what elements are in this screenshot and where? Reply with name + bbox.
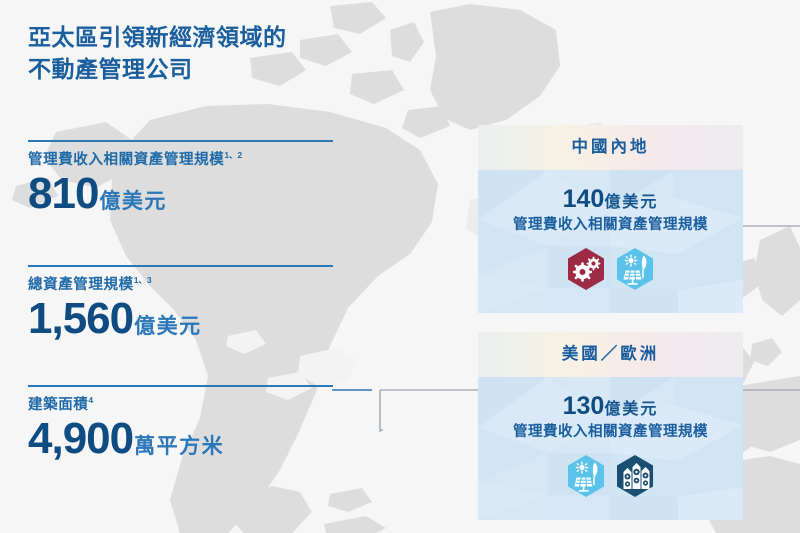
gears-icon (566, 247, 606, 291)
stat-value: 1,560 (28, 296, 133, 342)
stat-value-row: 810 億美元 (28, 171, 333, 217)
region-amount-row: 140億美元 (478, 187, 743, 212)
infographic-canvas: 亞太區引領新經濟領域的 不動產管理公司 管理費收入相關資產管理規模1、2 810… (0, 0, 800, 533)
stat-label-text: 總資產管理規模 (28, 277, 134, 293)
stat-unit: 億美元 (134, 310, 202, 340)
stat-block-aum-fee: 管理費收入相關資產管理規模1、2 810 億美元 (28, 140, 333, 217)
region-icon-row (478, 454, 743, 498)
region-amount-unit: 億美元 (604, 401, 658, 418)
stat-footnote: 1、3 (134, 275, 152, 285)
headline-block: 亞太區引領新經濟領域的 不動產管理公司 (28, 22, 368, 85)
region-card-body: 140億美元 管理費收入相關資產管理規模 (478, 170, 743, 313)
stat-label: 管理費收入相關資產管理規模1、2 (28, 151, 333, 169)
region-amount-row: 130億美元 (478, 394, 743, 419)
region-amount-unit: 億美元 (604, 194, 658, 211)
region-card-china: 中國內地 140億美元 管理費收入相關資產管理規模 (478, 125, 743, 313)
stat-value: 4,900 (28, 416, 133, 462)
stat-label-text: 建築面積 (28, 397, 88, 413)
stat-label: 總資產管理規模1、3 (28, 276, 333, 294)
region-card-header: 美國／歐洲 (478, 332, 743, 377)
stat-block-floor-area: 建築面積4 4,900 萬平方米 (28, 385, 333, 462)
stat-unit: 億美元 (99, 185, 167, 215)
region-card-header: 中國內地 (478, 125, 743, 170)
region-card-body: 130億美元 管理費收入相關資產管理規模 (478, 377, 743, 520)
stat-unit: 萬平方米 (134, 430, 224, 460)
region-card-content: 130億美元 管理費收入相關資產管理規模 (478, 377, 743, 498)
divider (28, 265, 333, 267)
region-card-content: 140億美元 管理費收入相關資產管理規模 (478, 170, 743, 291)
stat-label: 建築面積4 (28, 396, 333, 414)
divider (28, 140, 333, 142)
region-subtitle: 管理費收入相關資產管理規模 (478, 425, 743, 440)
stat-footnote: 1、2 (224, 150, 242, 160)
divider (28, 385, 333, 387)
stat-value-row: 4,900 萬平方米 (28, 416, 333, 462)
stat-block-total-aum: 總資產管理規模1、3 1,560 億美元 (28, 265, 333, 342)
stat-value-row: 1,560 億美元 (28, 296, 333, 342)
stat-footnote: 4 (88, 395, 93, 405)
data-center-icon (615, 454, 655, 498)
page-title: 亞太區引領新經濟領域的 不動產管理公司 (28, 22, 368, 85)
region-icon-row (478, 247, 743, 291)
region-card-us-europe: 美國／歐洲 130億美元 管理費收入相關資產管理規模 (478, 332, 743, 520)
solar-panel-icon (615, 247, 655, 291)
stat-label-text: 管理費收入相關資產管理規模 (28, 152, 224, 168)
stat-value: 810 (28, 171, 98, 217)
region-subtitle: 管理費收入相關資產管理規模 (478, 218, 743, 233)
region-amount: 140 (563, 185, 605, 213)
solar-panel-icon (566, 454, 606, 498)
region-amount: 130 (563, 392, 605, 420)
